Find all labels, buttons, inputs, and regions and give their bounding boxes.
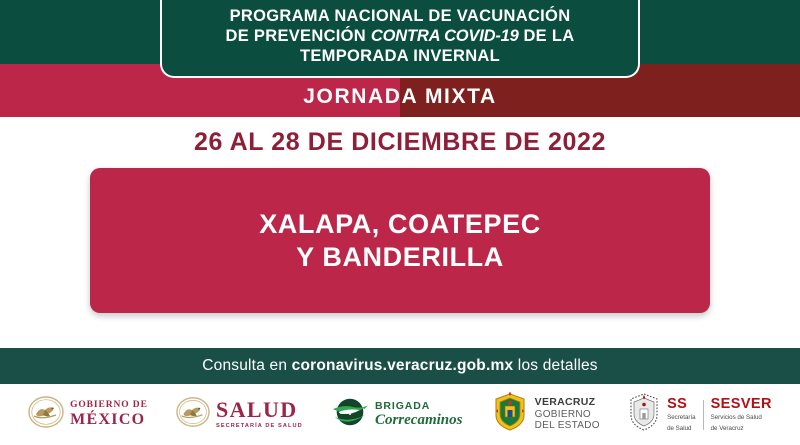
brigada-label-bottom: Correcaminos xyxy=(375,413,463,428)
veracruz-label-line-1: VERACRUZ xyxy=(535,397,600,409)
ss-sublabel-line-1: Secretaría xyxy=(667,414,696,422)
veracruz-label-line-2: GOBIERNO xyxy=(535,409,600,421)
logo-salud: SALUD SECRETARÍA DE SALUD xyxy=(176,395,303,434)
veracruz-shield-icon xyxy=(628,392,660,437)
mexico-eagle-seal-icon xyxy=(176,395,210,434)
sesver-label: SESVER xyxy=(711,397,772,412)
logo-brigada-correcaminos: BRIGADA Correcaminos xyxy=(331,395,463,434)
veracruz-coat-of-arms-icon xyxy=(491,391,529,438)
locality-line-1: XALAPA, COATEPEC xyxy=(259,208,541,241)
institution-logo-strip: GOBIERNO DE MÉXICO SALUD SECRETARÍA DE S… xyxy=(0,384,800,445)
vaccination-campaign-poster: PROGRAMA NACIONAL DE VACUNACIÓN DE PREVE… xyxy=(0,0,800,445)
sesver-text: SESVER Servicios de Salud de Veracruz xyxy=(711,397,772,433)
date-strip: 26 AL 28 DE DICIEMBRE DE 2022 xyxy=(0,117,800,167)
locality-card: XALAPA, COATEPEC Y BANDERILLA xyxy=(90,168,710,313)
salud-sublabel: SECRETARÍA DE SALUD xyxy=(216,424,303,430)
locality-line-2: Y BANDERILLA xyxy=(296,241,504,274)
sesver-sublabel-line-1: Servicios de Salud xyxy=(711,414,772,422)
brigada-label-top: BRIGADA xyxy=(375,401,463,412)
sesver-sublabel-line-2: de Veracruz xyxy=(711,425,772,433)
url-prefix: Consulta en xyxy=(202,357,291,374)
campaign-url[interactable]: coronavirus.veracruz.gob.mx xyxy=(292,357,514,374)
veracruz-label-line-3: DEL ESTADO xyxy=(535,420,600,432)
logo-sesver: SS Secretaría de Salud SESVER Servicios … xyxy=(628,392,772,437)
brigada-text: BRIGADA Correcaminos xyxy=(375,401,463,429)
url-band-text: Consulta en coronavirus.veracruz.gob.mx … xyxy=(202,357,598,375)
ss-label: SS xyxy=(667,397,696,412)
campaign-date: 26 AL 28 DE DICIEMBRE DE 2022 xyxy=(194,128,606,157)
gobierno-de-mexico-text: GOBIERNO DE MÉXICO xyxy=(70,401,148,429)
logo-gobierno-de-mexico: GOBIERNO DE MÉXICO xyxy=(28,394,148,435)
mexico-eagle-seal-icon xyxy=(28,394,64,435)
url-suffix: los detalles xyxy=(513,357,597,374)
logo-divider xyxy=(703,400,704,430)
salud-label: SALUD xyxy=(216,399,303,421)
logo-veracruz-gobierno: VERACRUZ GOBIERNO DEL ESTADO xyxy=(491,391,600,438)
ss-sublabel-line-2: de Salud xyxy=(667,425,696,433)
ss-text: SS Secretaría de Salud xyxy=(667,397,696,433)
gobierno-label-bottom: MÉXICO xyxy=(70,412,148,428)
header-green-rounded-plate xyxy=(160,0,640,78)
gobierno-label-top: GOBIERNO DE xyxy=(70,401,148,411)
veracruz-text: VERACRUZ GOBIERNO DEL ESTADO xyxy=(535,397,600,432)
url-band: Consulta en coronavirus.veracruz.gob.mx … xyxy=(0,348,800,384)
roadrunner-bird-icon xyxy=(331,395,369,434)
salud-text: SALUD SECRETARÍA DE SALUD xyxy=(216,399,303,430)
